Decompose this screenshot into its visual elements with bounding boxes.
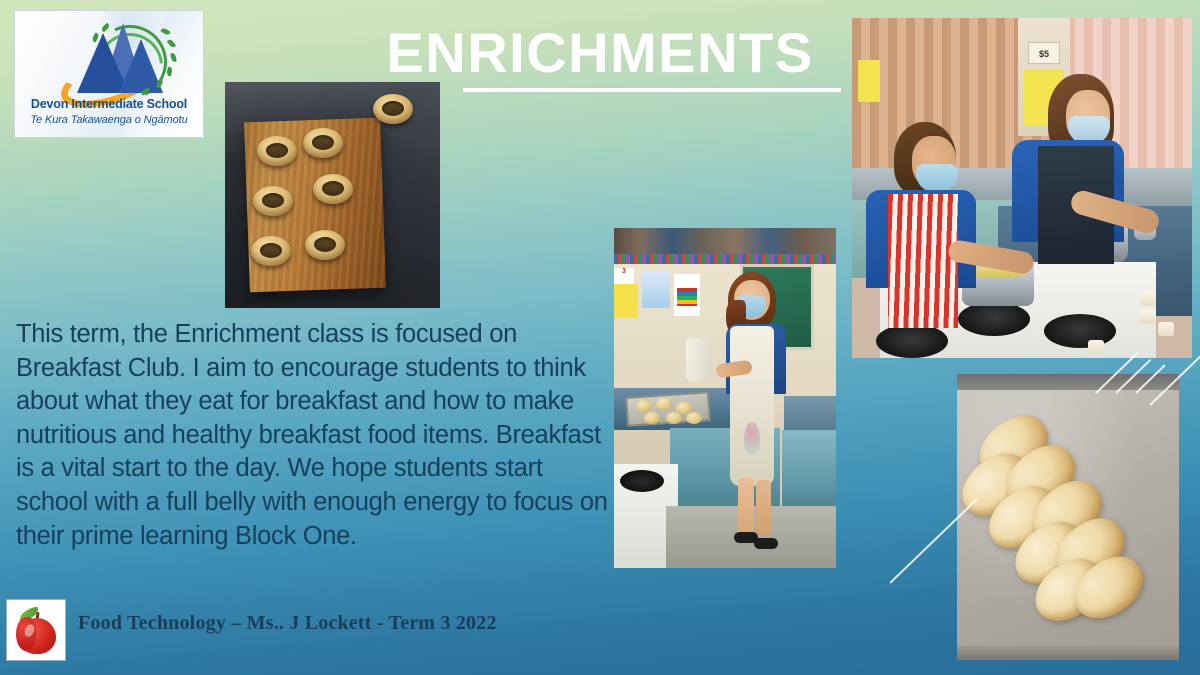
logo-school-subtitle: Te Kura Takawaenga o Ngāmotu (15, 114, 203, 126)
mountain-logo-icon (15, 17, 203, 95)
photo-student-kitchen: 3 (614, 228, 836, 568)
title-underline (463, 88, 841, 92)
footer-credit: Food Technology – Ms.. J Lockett - Term … (78, 612, 497, 635)
logo-school-name: Devon Intermediate School (15, 97, 203, 111)
page-title: ENRICHMENTS (300, 22, 900, 84)
photo-two-students-cooking: $5 (852, 18, 1192, 358)
slide-canvas: Devon Intermediate School Te Kura Takawa… (0, 0, 1200, 675)
school-logo: Devon Intermediate School Te Kura Takawa… (14, 10, 204, 138)
apple-icon (6, 599, 66, 661)
photo-pretzels (225, 82, 440, 308)
photo-braided-bread (957, 374, 1179, 660)
body-paragraph: This term, the Enrichment class is focus… (16, 318, 616, 553)
